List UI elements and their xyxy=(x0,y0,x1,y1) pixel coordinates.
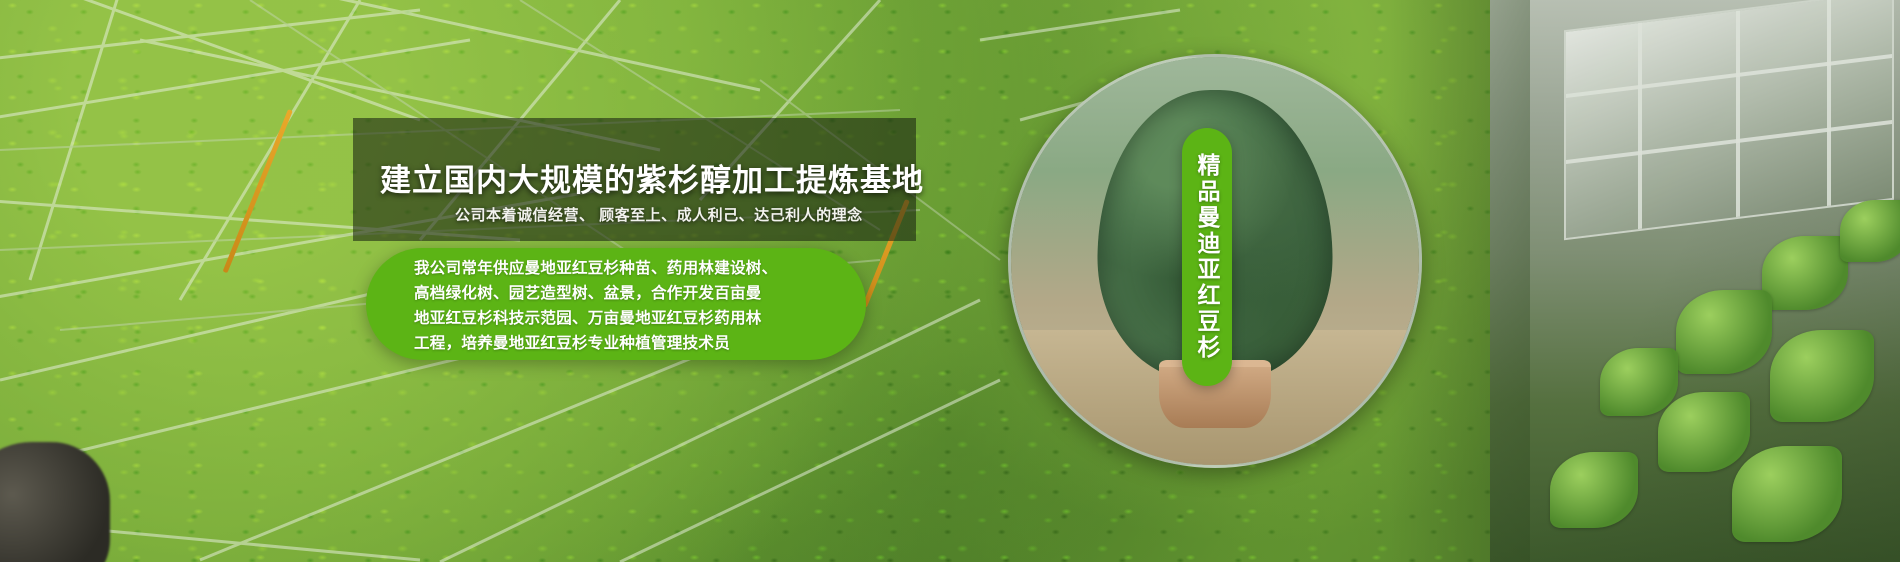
hero-banner: 建立国内大规模的紫杉醇加工提炼基地 公司本着诚信经营、 顾客至上、成人利己、达己… xyxy=(0,0,1900,562)
vine-leaf xyxy=(1840,200,1900,262)
page-subtitle: 公司本着诚信经营、 顾客至上、成人利己、达己利人的理念 xyxy=(455,204,863,225)
vine-leaf xyxy=(1600,348,1678,416)
description-line-1: 我公司常年供应曼地亚红豆杉种苗、药用林建设树、 xyxy=(414,256,834,281)
vertical-label-pill: 精品曼迪亚红豆杉 xyxy=(1182,128,1232,386)
vine-leaf xyxy=(1732,446,1842,542)
vine-leaf xyxy=(1550,452,1638,528)
page-title: 建立国内大规模的紫杉醇加工提炼基地 xyxy=(380,163,920,199)
greenhouse-post xyxy=(1638,23,1642,229)
vertical-label-text: 精品曼迪亚红豆杉 xyxy=(1190,153,1224,361)
greenhouse-vine-photo xyxy=(1490,0,1900,562)
description-line-4: 工程，培养曼地亚红豆杉专业种植管理技术员 xyxy=(414,331,834,356)
greenhouse-bar xyxy=(1566,54,1892,98)
vine-leaf xyxy=(1762,236,1848,310)
vine-leaf xyxy=(1676,290,1772,374)
description-text: 我公司常年供应曼地亚红豆杉种苗、药用林建设树、 高档绿化树、园艺造型树、盆景，合… xyxy=(414,256,834,356)
vine-leaf xyxy=(1658,392,1750,472)
foreground-rock xyxy=(0,442,110,562)
vine-leaf xyxy=(1770,330,1874,422)
greenhouse-post xyxy=(1827,0,1831,206)
description-line-3: 地亚红豆杉科技示范园、万亩曼地亚红豆杉药用林 xyxy=(414,306,834,331)
description-line-2: 高档绿化树、园艺造型树、盆景，合作开发百亩曼 xyxy=(414,281,834,306)
greenhouse-structure xyxy=(1564,0,1894,240)
greenhouse-post xyxy=(1736,11,1740,217)
greenhouse-bar xyxy=(1566,120,1892,164)
